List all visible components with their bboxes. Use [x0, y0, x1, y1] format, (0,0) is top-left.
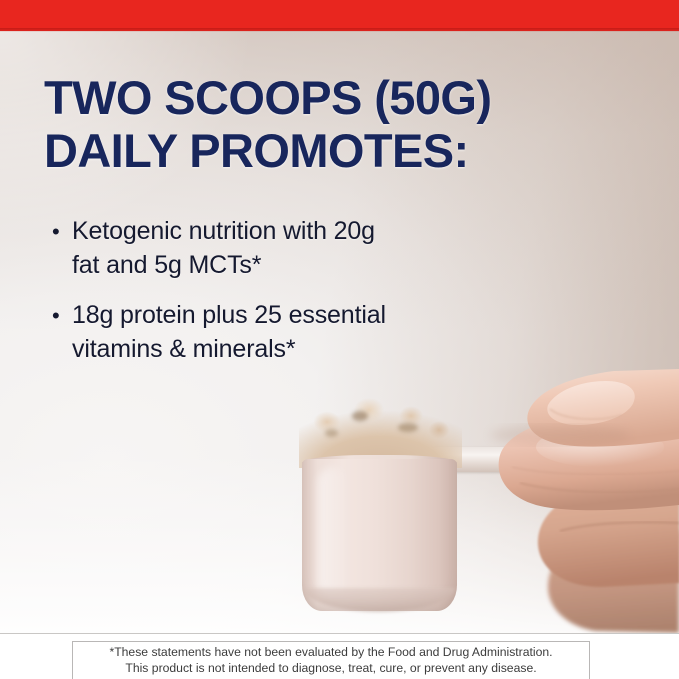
footer-divider — [0, 633, 679, 634]
bullet-dot-icon: • — [48, 215, 72, 248]
scoop-highlight — [318, 467, 348, 597]
benefit-line-2: vitamins & minerals* — [72, 335, 295, 363]
bullet-dot-icon: • — [48, 299, 72, 332]
brand-accent-bar-shadow — [0, 28, 679, 32]
brand-accent-bar — [0, 0, 679, 31]
benefit-line-2: fat and 5g MCTs* — [72, 251, 261, 279]
benefit-text: Ketogenic nutrition with 20g fat and 5g … — [72, 215, 468, 282]
product-benefits-infographic: TWO SCOOPS (50G) DAILY PROMOTES: • Ketog… — [0, 0, 679, 679]
headline-line-2: DAILY PROMOTES: — [44, 124, 491, 177]
powder-shadow-clump — [325, 429, 338, 437]
page-title: TWO SCOOPS (50G) DAILY PROMOTES: — [44, 71, 491, 177]
benefit-text: 18g protein plus 25 essential vitamins &… — [72, 299, 468, 366]
list-item: • Ketogenic nutrition with 20g fat and 5… — [48, 215, 468, 282]
powder-shadow-clump — [352, 411, 368, 421]
footer: *These statements have not been evaluate… — [0, 633, 679, 679]
benefit-line-1: 18g protein plus 25 essential — [72, 301, 386, 329]
benefits-list: • Ketogenic nutrition with 20g fat and 5… — [48, 215, 468, 383]
disclaimer-line-2: This product is not intended to diagnose… — [77, 661, 585, 677]
fda-disclaimer: *These statements have not been evaluate… — [72, 641, 590, 679]
headline-line-1: TWO SCOOPS (50G) — [44, 71, 491, 124]
photo-stage: TWO SCOOPS (50G) DAILY PROMOTES: • Ketog… — [0, 31, 679, 633]
benefit-line-1: Ketogenic nutrition with 20g — [72, 217, 375, 245]
list-item: • 18g protein plus 25 essential vitamins… — [48, 299, 468, 366]
powder-shadow-clump — [398, 423, 418, 432]
disclaimer-line-1: *These statements have not been evaluate… — [77, 645, 585, 661]
